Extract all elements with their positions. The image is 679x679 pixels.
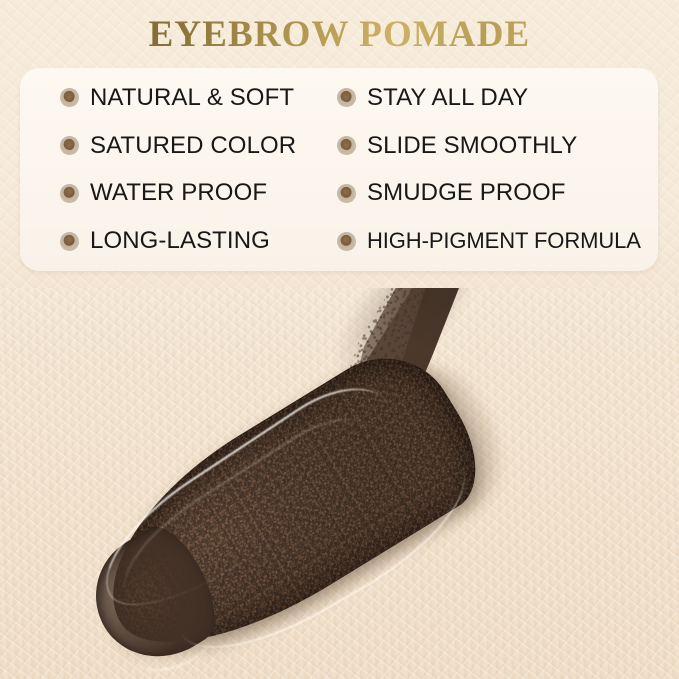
feature-label: WATER PROOF — [90, 181, 267, 205]
feature-item-high-pigment-formula: HIGH-PIGMENT FORMULA — [327, 217, 658, 265]
bullet-dot-icon — [337, 136, 356, 155]
features-grid: NATURAL & SOFT STAY ALL DAY SATURED COLO… — [20, 68, 658, 271]
feature-item-long-lasting: LONG-LASTING — [20, 217, 327, 265]
feature-item-smudge-proof: SMUDGE PROOF — [327, 170, 658, 218]
bullet-dot-icon — [60, 232, 79, 251]
feature-label: SMUDGE PROOF — [367, 181, 566, 205]
features-card: NATURAL & SOFT STAY ALL DAY SATURED COLO… — [20, 68, 658, 271]
bullet-dot-icon — [60, 184, 79, 203]
swatch-canvas — [0, 288, 679, 679]
pomade-smear — [0, 288, 617, 679]
feature-item-water-proof: WATER PROOF — [20, 170, 327, 218]
feature-label: STAY ALL DAY — [367, 86, 528, 110]
feature-label: SLIDE SMOOTHLY — [367, 134, 577, 158]
bullet-dot-icon — [60, 88, 79, 107]
feature-label: NATURAL & SOFT — [90, 86, 294, 110]
feature-item-satured-color: SATURED COLOR — [20, 122, 327, 170]
bullet-dot-icon — [337, 184, 356, 203]
feature-label: SATURED COLOR — [90, 134, 296, 158]
product-infographic: EYEBROW POMADE NATURAL & SOFT STAY ALL D… — [0, 0, 679, 679]
bullet-dot-icon — [60, 136, 79, 155]
feature-item-natural-soft: NATURAL & SOFT — [20, 74, 327, 122]
feature-item-stay-all-day: STAY ALL DAY — [327, 74, 658, 122]
product-photo — [0, 288, 679, 679]
feature-item-slide-smoothly: SLIDE SMOOTHLY — [327, 122, 658, 170]
feature-label: HIGH-PIGMENT FORMULA — [367, 230, 641, 252]
bullet-dot-icon — [337, 88, 356, 107]
bullet-dot-icon — [337, 232, 356, 251]
feature-label: LONG-LASTING — [90, 229, 270, 253]
page-title: EYEBROW POMADE — [0, 13, 679, 57]
